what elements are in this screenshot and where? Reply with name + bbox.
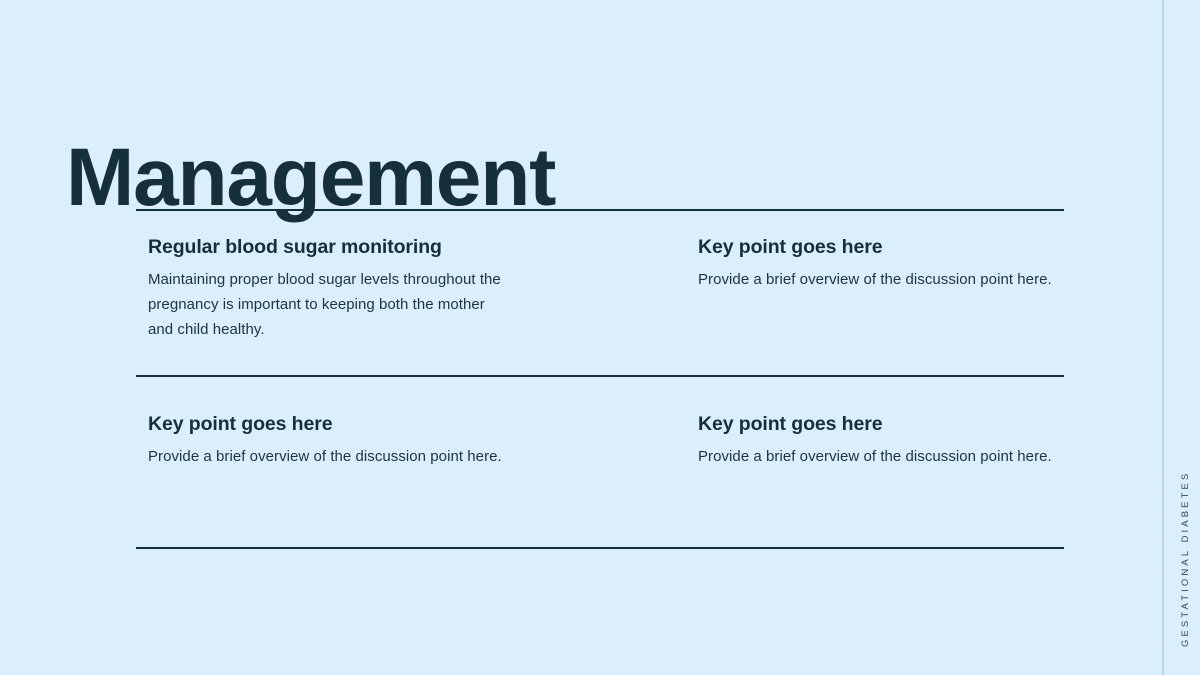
key-point-body: Provide a brief overview of the discussi… [698, 444, 1064, 469]
key-point-body: Provide a brief overview of the discussi… [698, 267, 1064, 292]
page-title: Management [66, 137, 555, 219]
key-points-grid: Regular blood sugar monitoring Maintaini… [136, 209, 1064, 549]
key-point-body: Maintaining proper blood sugar levels th… [148, 267, 514, 342]
deck-topic-label: Gestational Diabetes [1171, 470, 1191, 648]
slide-canvas: Management Regular blood sugar monitorin… [0, 0, 1200, 675]
key-point-body: Provide a brief overview of the discussi… [148, 444, 514, 469]
right-rail-divider [1162, 0, 1164, 675]
key-point-heading: Key point goes here [698, 412, 1064, 436]
key-point-heading: Key point goes here [698, 235, 1064, 259]
key-point-heading: Key point goes here [148, 412, 514, 436]
key-point-item: Regular blood sugar monitoring Maintaini… [148, 235, 514, 342]
key-point-item: Key point goes here Provide a brief over… [698, 235, 1064, 292]
key-point-heading: Regular blood sugar monitoring [148, 235, 514, 259]
key-point-item: Key point goes here Provide a brief over… [698, 412, 1064, 469]
key-point-item: Key point goes here Provide a brief over… [148, 412, 514, 469]
